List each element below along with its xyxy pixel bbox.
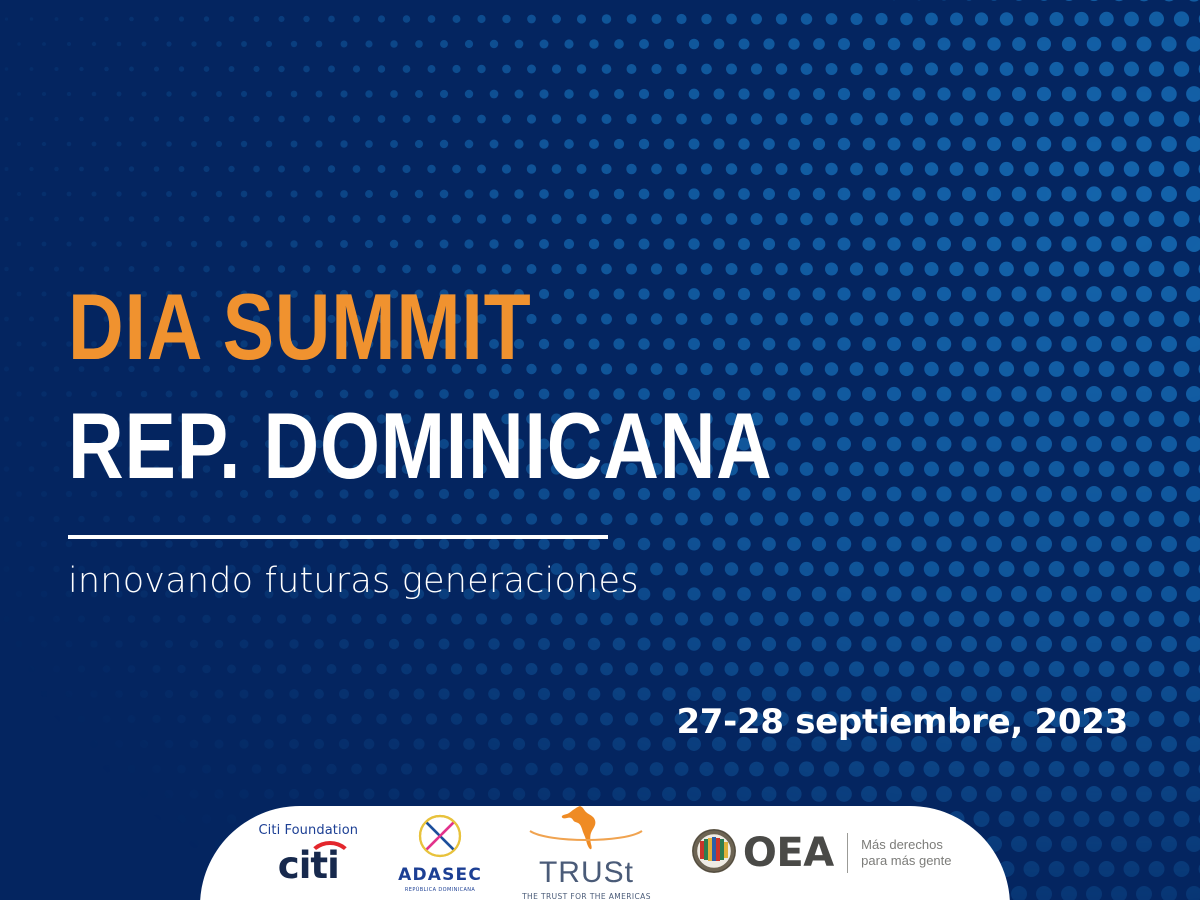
sponsor-logo-oea[interactable]: OEA Más derechos para más gente [691, 828, 952, 879]
citi-wordmark: citi [278, 847, 339, 884]
oea-tagline-line1: Más derechos [861, 837, 951, 853]
sponsor-logo-adasec[interactable]: ADASEC REPÚBLICA DOMINICANA [398, 813, 482, 893]
sponsor-footer-band: Citi Foundation citi [200, 806, 1010, 900]
event-date: 27-28 septiembre, 2023 [676, 702, 1128, 742]
sponsor-logo-citi-foundation[interactable]: Citi Foundation citi [258, 823, 358, 884]
trust-subtitle: THE TRUST FOR THE AMERICAS [522, 892, 651, 900]
oea-seal-icon [691, 828, 737, 879]
trust-wordmark: TRUSt [539, 858, 634, 888]
americas-map-icon [528, 805, 644, 858]
sponsor-logo-trust[interactable]: TRUSt THE TRUST FOR THE AMERICAS [522, 805, 651, 900]
event-poster: DIA SUMMIT REP. DOMINICANA innovando fut… [0, 0, 1200, 900]
adasec-subtitle: REPÚBLICA DOMINICANA [405, 887, 475, 893]
adasec-wordmark: ADASEC [398, 867, 482, 884]
poster-tagline: innovando futuras generaciones [68, 561, 1148, 601]
poster-text-block: DIA SUMMIT REP. DOMINICANA innovando fut… [68, 282, 1148, 601]
title-divider [68, 535, 608, 539]
citi-foundation-label: Citi Foundation [258, 823, 358, 838]
oea-tagline-line2: para más gente [861, 853, 951, 869]
page-title-primary: DIA SUMMIT [68, 282, 954, 371]
oea-divider [847, 833, 849, 873]
oea-wordmark: OEA [743, 833, 834, 873]
oea-tagline: Más derechos para más gente [861, 837, 951, 870]
adasec-circle-cross-icon [417, 813, 463, 864]
page-title-secondary: REP. DOMINICANA [68, 401, 954, 490]
